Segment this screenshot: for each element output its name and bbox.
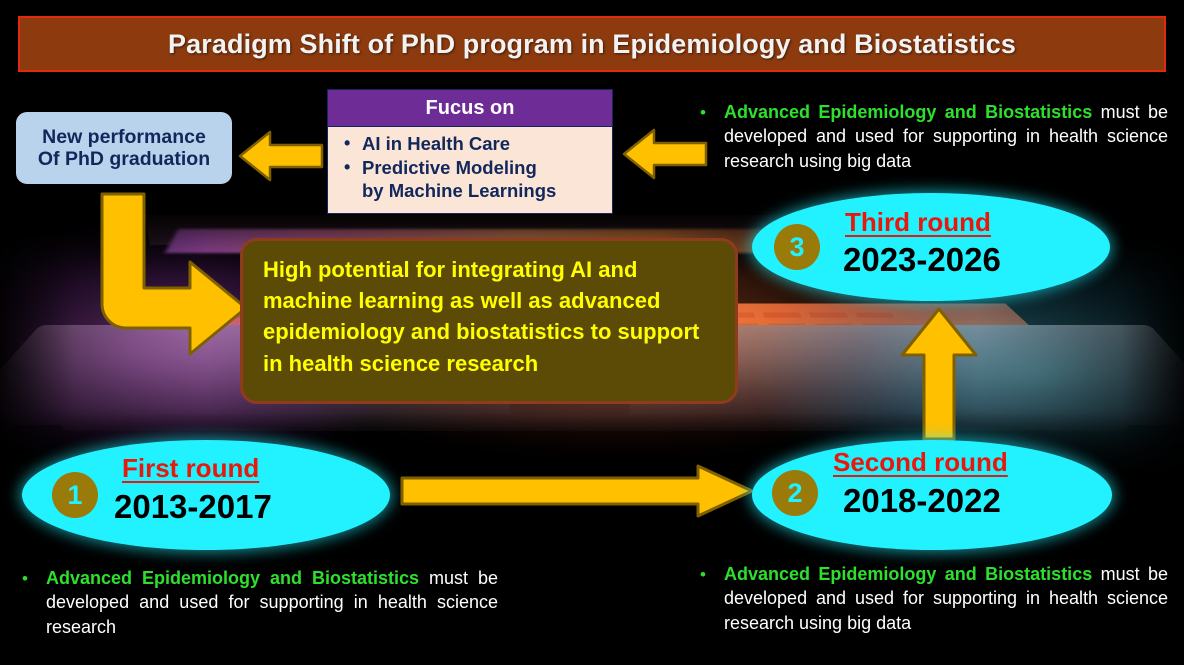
second-round-years: 2018-2022 <box>843 482 1001 520</box>
third-round-number-badge: 3 <box>774 224 820 270</box>
focus-item-2-continuation: by Machine Learnings <box>344 179 606 203</box>
focus-list-item-2: • Predictive Modeling <box>344 156 606 180</box>
third-round-years: 2023-2026 <box>843 241 1001 279</box>
focus-item-1-text: AI in Health Care <box>362 132 606 156</box>
arrow-blue-box-left <box>236 128 326 184</box>
third-round-number: 3 <box>789 234 804 261</box>
page-title: Paradigm Shift of PhD program in Epidemi… <box>168 29 1016 60</box>
bullet-icon: • <box>344 132 362 155</box>
central-callout-text: High potential for integrating AI and ma… <box>263 254 713 379</box>
focus-on-title: Fucus on <box>426 97 515 120</box>
first-round-number: 1 <box>67 482 82 509</box>
arrow-elbow-down-right <box>86 188 256 360</box>
bullet-icon: • <box>22 566 46 590</box>
note-bottom-right-text: Advanced Epidemiology and Biostatistics … <box>724 562 1168 635</box>
focus-list-item-1: • AI in Health Care <box>344 132 606 156</box>
arrow-second-to-third <box>898 305 980 443</box>
bullet-icon: • <box>344 156 362 179</box>
note-bottom-left: • Advanced Epidemiology and Biostatistic… <box>22 566 498 639</box>
second-round-number-badge: 2 <box>772 470 818 516</box>
arrow-focus-left <box>620 126 710 182</box>
second-round-number: 2 <box>787 480 802 507</box>
slide-title-bar: Paradigm Shift of PhD program in Epidemi… <box>18 16 1166 72</box>
first-round-number-badge: 1 <box>52 472 98 518</box>
slide-canvas: Paradigm Shift of PhD program in Epidemi… <box>0 0 1184 665</box>
new-performance-line1: New performance <box>42 126 206 148</box>
note-bottom-right-highlight: Advanced Epidemiology and Biostatistics <box>724 564 1092 584</box>
second-round-title: Second round <box>833 447 1008 478</box>
third-round-title: Third round <box>845 207 991 238</box>
focus-item-2-text: Predictive Modeling <box>362 156 606 180</box>
note-bottom-left-text: Advanced Epidemiology and Biostatistics … <box>46 566 498 639</box>
note-top-right-text: Advanced Epidemiology and Biostatistics … <box>724 100 1168 173</box>
bullet-icon: • <box>700 562 724 586</box>
first-round-years: 2013-2017 <box>114 488 272 526</box>
focus-on-header: Fucus on <box>327 89 613 127</box>
new-performance-line2: Of PhD graduation <box>38 148 210 170</box>
new-performance-box[interactable]: New performance Of PhD graduation <box>16 112 232 184</box>
note-bottom-right: • Advanced Epidemiology and Biostatistic… <box>700 562 1168 635</box>
note-bottom-left-highlight: Advanced Epidemiology and Biostatistics <box>46 568 419 588</box>
note-top-right-highlight: Advanced Epidemiology and Biostatistics <box>724 102 1092 122</box>
focus-on-box[interactable]: Fucus on • AI in Health Care • Predictiv… <box>327 89 613 214</box>
note-top-right: • Advanced Epidemiology and Biostatistic… <box>700 100 1168 173</box>
bullet-icon: • <box>700 100 724 124</box>
focus-on-body: • AI in Health Care • Predictive Modelin… <box>327 127 613 214</box>
central-callout-box[interactable]: High potential for integrating AI and ma… <box>240 238 738 404</box>
arrow-first-to-second <box>398 462 756 520</box>
first-round-title: First round <box>122 453 259 484</box>
